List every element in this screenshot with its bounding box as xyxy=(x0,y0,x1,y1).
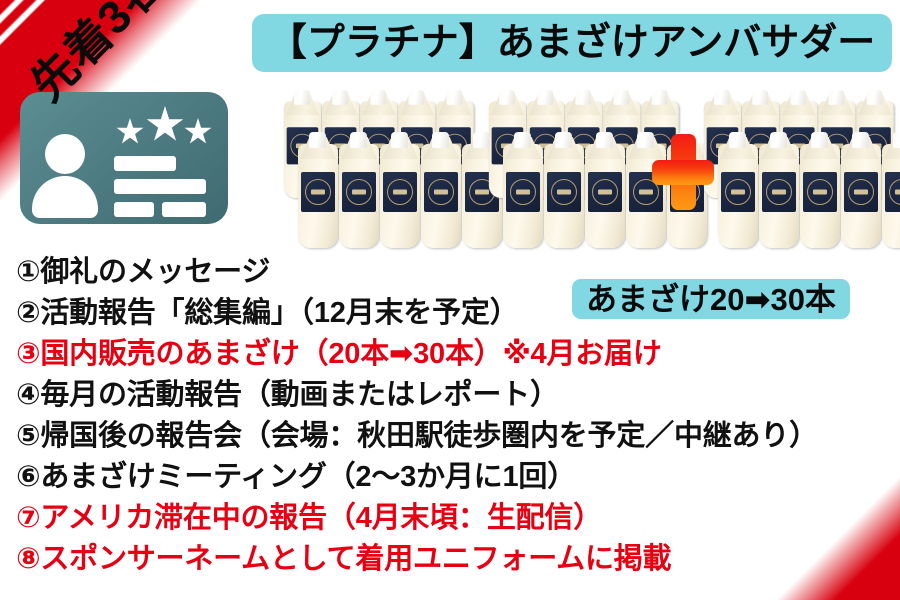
pouch-emblem-icon xyxy=(305,179,331,205)
pouch-label xyxy=(547,172,581,212)
pouch-emblem-icon xyxy=(889,179,900,205)
pouch-cap xyxy=(391,132,408,148)
pouch-emblem-icon xyxy=(725,179,751,205)
benefit-item-4: ④毎月の活動報告（動画またはレポート） xyxy=(16,375,886,416)
bottle-group-3 xyxy=(702,88,900,250)
benefit-item-8: ⑧スポンサーネームとして着用ユニフォームに掲載 xyxy=(16,539,886,580)
page-title: 【プラチナ】あまざけアンバサダー xyxy=(269,24,875,62)
pouch-label xyxy=(506,172,540,212)
star-icon-right xyxy=(184,118,212,146)
pouch-cap xyxy=(408,90,424,105)
pouch-cap xyxy=(447,90,463,105)
pouch-emblem-icon xyxy=(510,179,536,205)
amazake-pouch xyxy=(880,132,900,248)
pouch-cap xyxy=(370,90,386,105)
amazake-pouch xyxy=(757,132,801,248)
pouch-emblem-icon xyxy=(848,179,874,205)
pouch-cap xyxy=(575,90,591,105)
amazake-pouch xyxy=(542,132,586,248)
benefit-item-5: ⑤帰国後の報告会（会場：秋田駅徒歩圏内を予定／中継あり） xyxy=(16,416,886,457)
pouch-cap xyxy=(537,90,553,105)
pouch-label xyxy=(588,172,622,212)
pouch-emblem-icon xyxy=(428,179,454,205)
pouch-cap xyxy=(729,132,746,148)
plus-icon xyxy=(652,134,714,210)
pouch-cap xyxy=(432,132,449,148)
amazake-pouch xyxy=(501,132,545,248)
product-showcase xyxy=(282,88,900,250)
benefit-item-3: ③国内販売のあまざけ（20本➡30本）※4月お届け xyxy=(16,334,886,375)
pouch-emblem-icon xyxy=(387,179,413,205)
bottle-row-front xyxy=(716,132,900,250)
amazake-pouch xyxy=(798,132,842,248)
pouch-cap xyxy=(294,90,310,105)
pouch-cap xyxy=(309,132,326,148)
pouch-cap xyxy=(350,132,367,148)
id-card-text-bar-1 xyxy=(114,156,176,171)
benefit-item-1: ①御礼のメッセージ xyxy=(16,252,886,293)
amazake-pouch xyxy=(716,132,760,248)
star-icon-center xyxy=(146,106,184,144)
pouch-emblem-icon xyxy=(551,179,577,205)
pouch-emblem-icon xyxy=(346,179,372,205)
benefit-item-2: ②活動報告「総集編」（12月末を予定） xyxy=(16,293,886,334)
pouch-cap xyxy=(714,90,730,105)
amazake-pouch xyxy=(296,132,340,248)
amazake-pouch xyxy=(839,132,883,248)
promotional-poster: 先着3名 【プラチナ】あまざけアンバサダー あまざけ20➡30本 ①御礼のメッセ… xyxy=(0,0,900,600)
pouch-cap xyxy=(555,132,572,148)
pouch-label xyxy=(301,172,335,212)
pouch-cap xyxy=(893,132,900,148)
pouch-label xyxy=(885,172,900,212)
id-card-text-bar-3a xyxy=(114,202,154,217)
plus-icon-horizontal-bar xyxy=(652,160,714,185)
person-head-icon xyxy=(45,134,85,174)
pouch-cap xyxy=(828,90,844,105)
pouch-label xyxy=(383,172,417,212)
pouch-emblem-icon xyxy=(807,179,833,205)
pouch-label xyxy=(424,172,458,212)
pouch-cap xyxy=(770,132,787,148)
pouch-cap xyxy=(752,90,768,105)
pouch-label xyxy=(721,172,755,212)
pouch-cap xyxy=(652,90,668,105)
benefit-item-7: ⑦アメリカ滞在中の報告（4月末頃：生配信） xyxy=(16,498,886,539)
pouch-label xyxy=(844,172,878,212)
amazake-pouch xyxy=(378,132,422,248)
person-body-icon xyxy=(32,176,98,218)
bottle-group-1 xyxy=(282,88,492,250)
amazake-pouch xyxy=(419,132,463,248)
amazake-pouch xyxy=(583,132,627,248)
pouch-cap xyxy=(811,132,828,148)
id-card-text-bar-2 xyxy=(114,179,206,194)
id-card-text-bar-3b xyxy=(162,202,206,217)
amazake-pouch xyxy=(337,132,381,248)
pouch-cap xyxy=(499,90,515,105)
star-icon-left xyxy=(116,118,144,146)
bottle-row-front xyxy=(296,132,506,250)
poster-title-pill: 【プラチナ】あまざけアンバサダー xyxy=(252,14,892,72)
pouch-cap xyxy=(332,90,348,105)
pouch-emblem-icon xyxy=(592,179,618,205)
benefit-item-6: ⑥あまざけミーティング（2〜3か月に1回） xyxy=(16,457,886,498)
pouch-cap xyxy=(790,90,806,105)
pouch-label xyxy=(762,172,796,212)
pouch-cap xyxy=(867,90,883,105)
pouch-cap xyxy=(596,132,613,148)
pouch-cap xyxy=(613,90,629,105)
benefits-list: ①御礼のメッセージ②活動報告「総集編」（12月末を予定）③国内販売のあまざけ（2… xyxy=(16,252,886,580)
pouch-label xyxy=(803,172,837,212)
pouch-cap xyxy=(852,132,869,148)
pouch-cap xyxy=(514,132,531,148)
pouch-label xyxy=(342,172,376,212)
pouch-emblem-icon xyxy=(766,179,792,205)
